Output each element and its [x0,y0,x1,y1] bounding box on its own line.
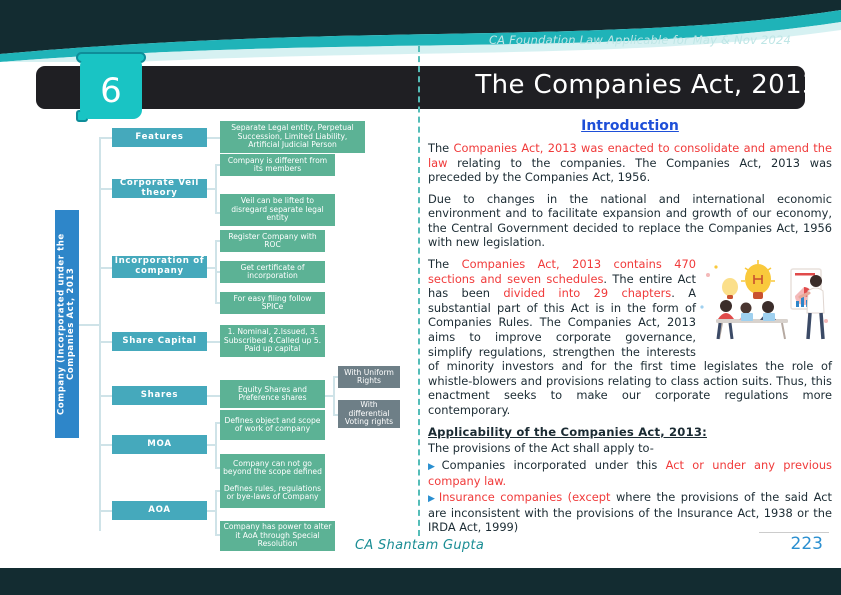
connector [99,188,112,190]
para1-rest: relating to the companies. The Companies… [428,156,832,185]
intro-paragraph-1: The Companies Act, 2013 was enacted to c… [428,141,832,185]
mindmap-leaf: For easy filing follow SPICe [220,292,325,314]
triangle-bullet-icon: ▶ [428,494,437,504]
intro-paragraph-2: Due to changes in the national and inter… [428,192,832,250]
mindmap-leaf: Veil can be lifted to disregard separate… [220,194,335,226]
connector [99,267,112,269]
connector [215,422,217,467]
bullet1-lead: Companies incorporated under this [442,458,666,472]
connector [207,444,215,446]
applicability-intro: The provisions of the Act shall apply to… [428,441,832,456]
intro-paragraph-3: The Companies Act, 2013 contains 470 sec… [428,257,832,418]
connector [207,267,215,269]
connector [99,510,112,512]
connector [99,341,112,343]
mindmap-leaf: Defines object and scope of work of comp… [220,410,325,440]
page-title: The Companies Act, 2013 [475,70,819,100]
mindmap-branch-aoa: AOA [112,501,207,520]
mindmap-diagram: Company (Incorporated under the Companie… [50,118,420,548]
mindmap-branch-share-capital: Share Capital [112,332,207,351]
connector [79,324,99,326]
connector [207,395,220,397]
connector [325,395,333,397]
mindmap-subleaf: With differential Voting rights [338,400,400,428]
connector [207,188,215,190]
connector [215,490,217,534]
document-page: CA Foundation Law Applicable for May & N… [0,0,841,595]
bullet2-highlight: Insurance companies (except [439,490,611,504]
mindmap-branch-shares: Shares [112,386,207,405]
mindmap-branch-corporate-veil: Corporate Veil theory [112,179,207,198]
mindmap-branch-incorporation: Incorporation of company [112,256,207,278]
content-heading: Introduction [428,118,832,136]
mindmap-subleaf: With Uniform Rights [338,366,400,388]
para3-highlight-2: divided into 29 chapters [503,286,671,300]
author-signature: CA Shantam Gupta [355,538,484,553]
applicability-heading: Applicability of the Companies Act, 2013… [428,425,832,440]
page-number: 223 [791,534,823,554]
mindmap-leaf: Register Company with ROC [220,230,325,252]
mindmap-branch-features: Features [112,128,207,147]
mindmap-leaf: Separate Legal entity, Perpetual Success… [220,121,365,153]
mindmap-leaf: Company is different from its members [220,154,335,176]
connector [99,395,112,397]
connector [99,137,112,139]
mindmap-leaf: Company has power to alter it AoA throug… [220,521,335,551]
subject-line: CA Foundation Law Applicable for May & N… [455,33,825,47]
content-column: Introduction The Companies Act, 2013 was… [428,118,832,543]
mindmap-leaf: 1. Nominal, 2.Issued, 3. Subscribed 4.Ca… [220,325,325,357]
mindmap-leaf: Defines rules, regulations or bye-laws o… [220,478,325,508]
connector [99,444,112,446]
chapter-number: 6 [100,74,122,108]
connector [207,341,220,343]
connector [215,164,217,212]
chapter-badge: 6 [80,57,142,119]
page-number-rule [759,532,829,533]
mindmap-root-node: Company (Incorporated under the Companie… [55,210,79,438]
triangle-bullet-icon: ▶ [428,462,440,472]
bottom-bar-decoration [0,568,841,595]
connector [207,137,220,139]
applicability-bullet-1: ▶Companies incorporated under this Act o… [428,458,832,488]
connector [99,137,101,531]
connector [207,510,215,512]
business-meeting-illustration [696,259,832,347]
para1-lead: The [428,141,454,155]
connector [333,376,335,414]
applicability-bullet-2: ▶Insurance companies (except where the p… [428,490,832,535]
para3-lead: The [428,257,462,271]
mindmap-leaf: Equity Shares and Preference shares [220,380,325,408]
mindmap-leaf: Get certificate of incorporation [220,261,325,283]
mindmap-branch-moa: MOA [112,435,207,454]
